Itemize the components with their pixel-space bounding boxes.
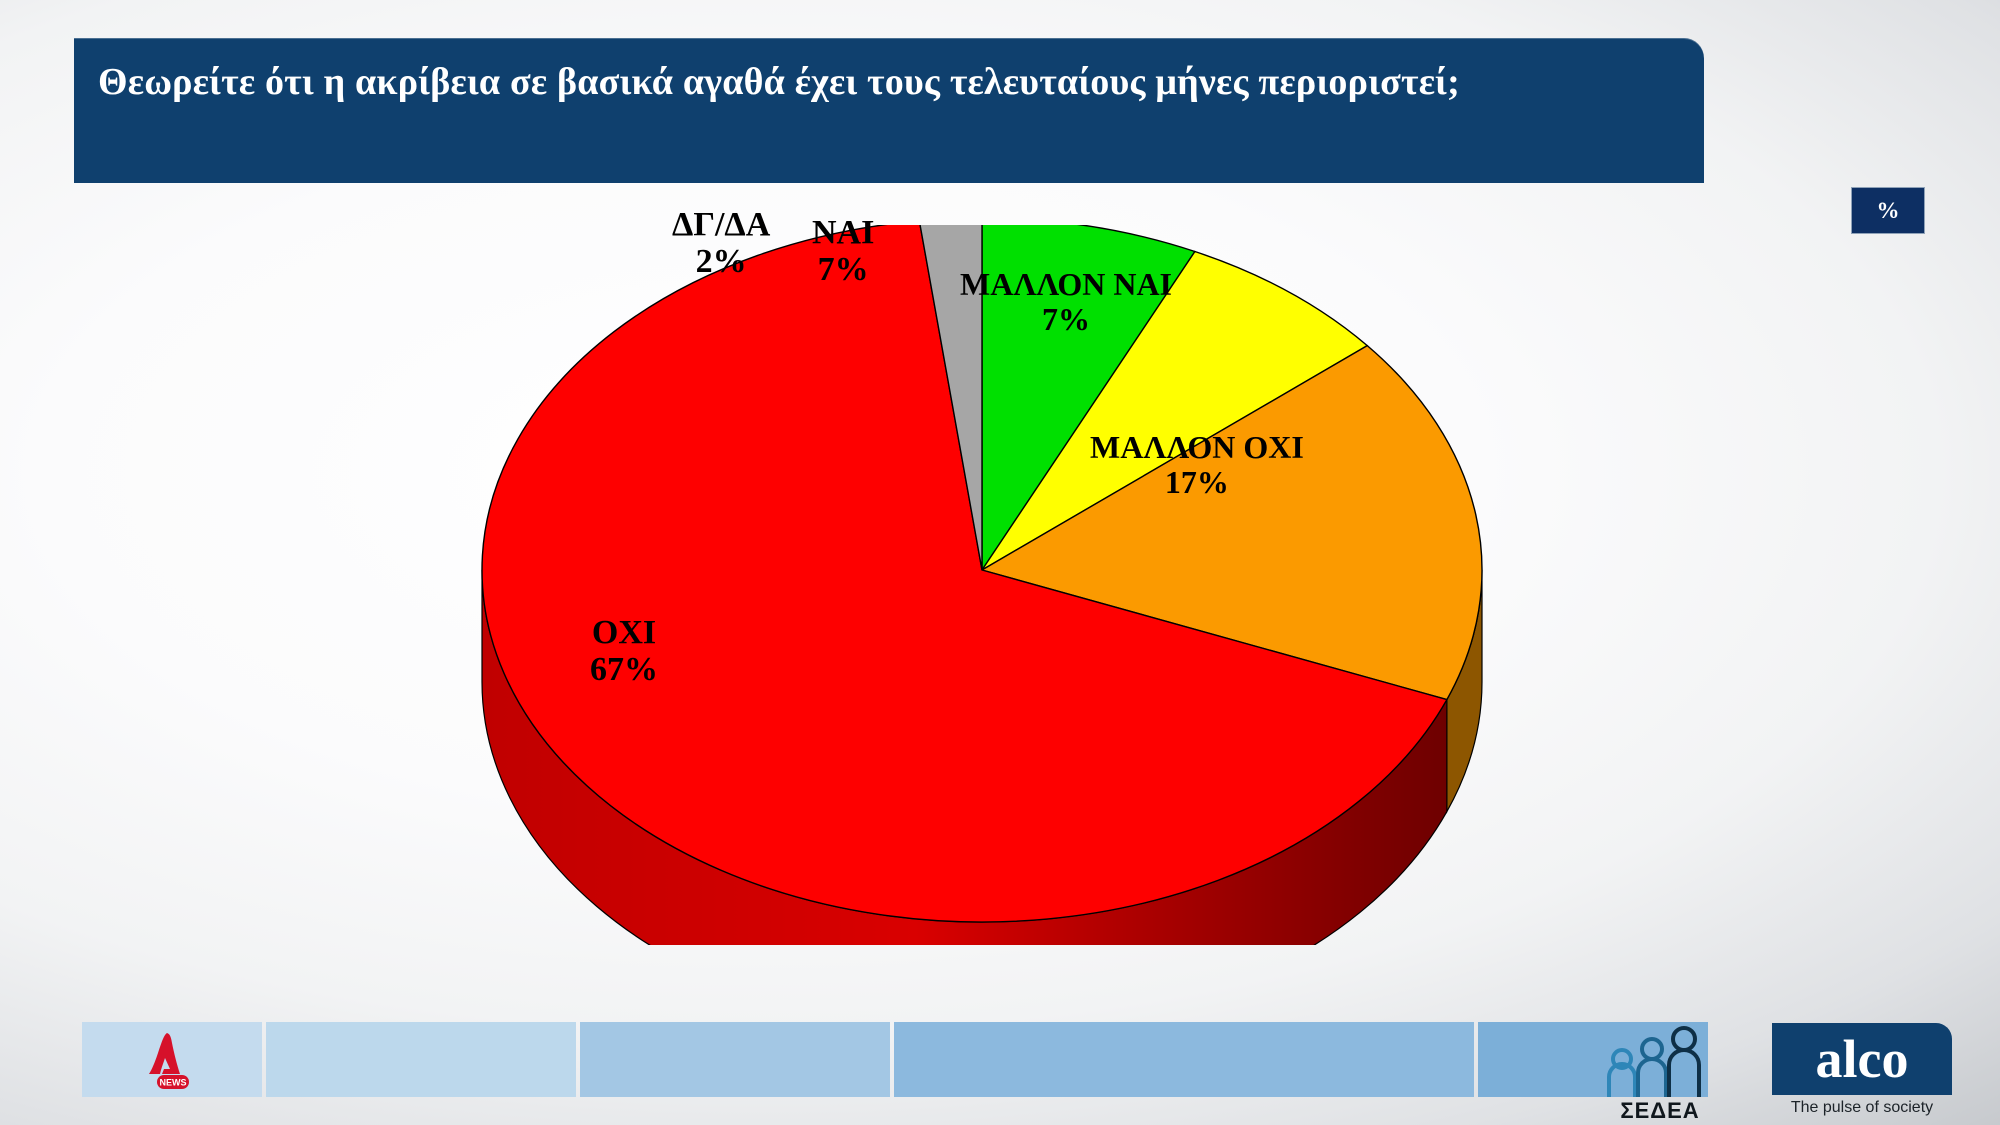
pie-chart-svg (420, 225, 1620, 945)
unit-badge: % (1851, 187, 1925, 234)
footer-segment (894, 1022, 1474, 1097)
alco-label: alco (1816, 1032, 1909, 1086)
pie-chart: ΝΑΙ 7% ΜΑΛΛΟΝ ΝΑΙ 7% ΜΑΛΛΟΝ ΟΧΙ 17% ΟΧΙ … (420, 225, 1620, 945)
pie-slices-group (482, 225, 1482, 945)
page-title: Θεωρείτε ότι η ακρίβεια σε βασικά αγαθά … (98, 60, 1688, 104)
alco-logo: alco (1772, 1023, 1952, 1095)
unit-badge-label: % (1877, 198, 1900, 224)
alco-tagline: The pulse of society (1772, 1099, 1952, 1117)
sedea-label: ΣΕΔΕΑ (1600, 1098, 1720, 1124)
footer-bar: NEWS ΣΕΔΕΑ alco The pulse of society (0, 1015, 2000, 1125)
alpha-news-logo-icon: NEWS (140, 1031, 204, 1091)
footer-segment (580, 1022, 890, 1097)
svg-text:NEWS: NEWS (160, 1078, 187, 1088)
footer-segment (266, 1022, 576, 1097)
